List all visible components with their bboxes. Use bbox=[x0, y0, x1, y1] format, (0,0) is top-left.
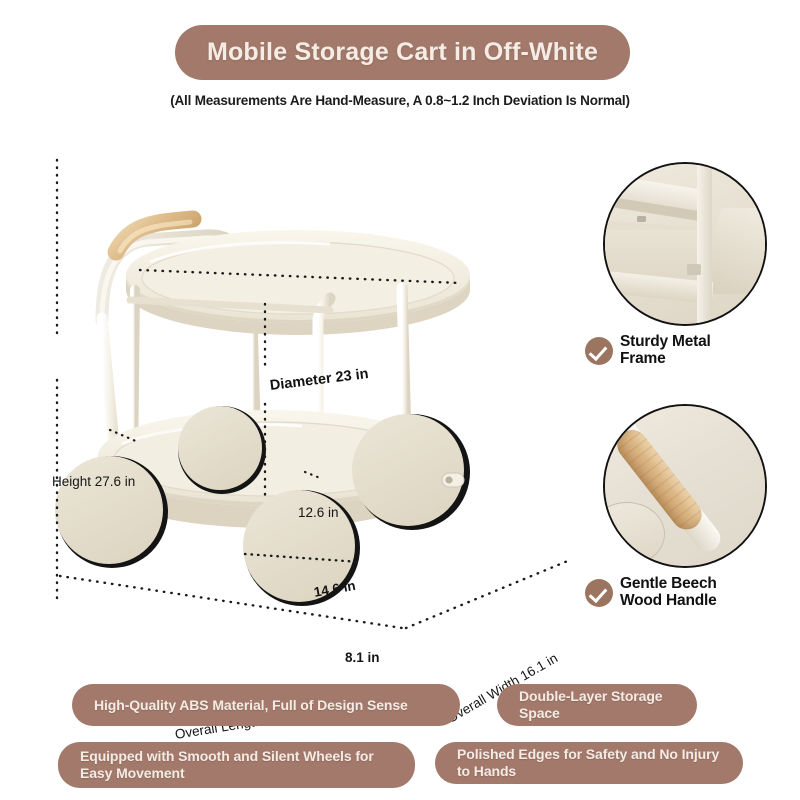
callout-label-wood-handle: Gentle Beech Wood Handle bbox=[620, 576, 717, 609]
wheel-back-left bbox=[178, 406, 266, 494]
callout-line-2: Wood Handle bbox=[620, 593, 717, 610]
width-dim-line bbox=[406, 560, 570, 628]
title-banner: Mobile Storage Cart in Off-White bbox=[175, 25, 630, 80]
callout-line-1: Sturdy Metal bbox=[620, 334, 711, 351]
callout-gentle-beech-wood-handle: Gentle Beech Wood Handle bbox=[585, 404, 795, 609]
feature-pill-abs-material: High-Quality ABS Material, Full of Desig… bbox=[72, 684, 460, 726]
wheel-front-left bbox=[55, 456, 168, 568]
feature-text: Equipped with Smooth and Silent Wheels f… bbox=[80, 748, 393, 781]
tray-top bbox=[126, 230, 470, 335]
wheel-axle-cap bbox=[442, 473, 464, 487]
callout-line-1: Gentle Beech bbox=[620, 576, 717, 593]
callout-line-2: Frame bbox=[620, 351, 711, 368]
feature-text: Polished Edges for Safety and No Injury … bbox=[457, 746, 721, 779]
callout-photo-wood-handle bbox=[603, 404, 767, 568]
dim-label-clearance: 12.6 in bbox=[298, 505, 339, 520]
feature-pill-polished-edges: Polished Edges for Safety and No Injury … bbox=[435, 742, 743, 784]
product-diagram: Height 27.6 in Diameter 23 in 12.6 in 14… bbox=[30, 120, 590, 650]
callout-label-metal-frame: Sturdy Metal Frame bbox=[620, 334, 711, 367]
feature-text: Double-Layer Storage Space bbox=[519, 688, 675, 721]
feature-pill-double-layer-storage: Double-Layer Storage Space bbox=[497, 684, 697, 726]
measurement-disclaimer: (All Measurements Are Hand-Measure, A 0.… bbox=[0, 93, 800, 108]
feature-pill-silent-wheels: Equipped with Smooth and Silent Wheels f… bbox=[58, 742, 415, 788]
callout-sturdy-metal-frame: Sturdy Metal Frame bbox=[585, 162, 795, 367]
dim-label-height: Height 27.6 in bbox=[52, 474, 135, 489]
check-icon bbox=[585, 579, 613, 607]
check-icon bbox=[585, 337, 613, 365]
page-title: Mobile Storage Cart in Off-White bbox=[207, 38, 598, 67]
dim-label-wheel: 8.1 in bbox=[345, 650, 380, 665]
callout-photo-metal-frame bbox=[603, 162, 767, 326]
infographic-canvas: Mobile Storage Cart in Off-White (All Me… bbox=[0, 0, 800, 800]
feature-text: High-Quality ABS Material, Full of Desig… bbox=[94, 697, 408, 714]
